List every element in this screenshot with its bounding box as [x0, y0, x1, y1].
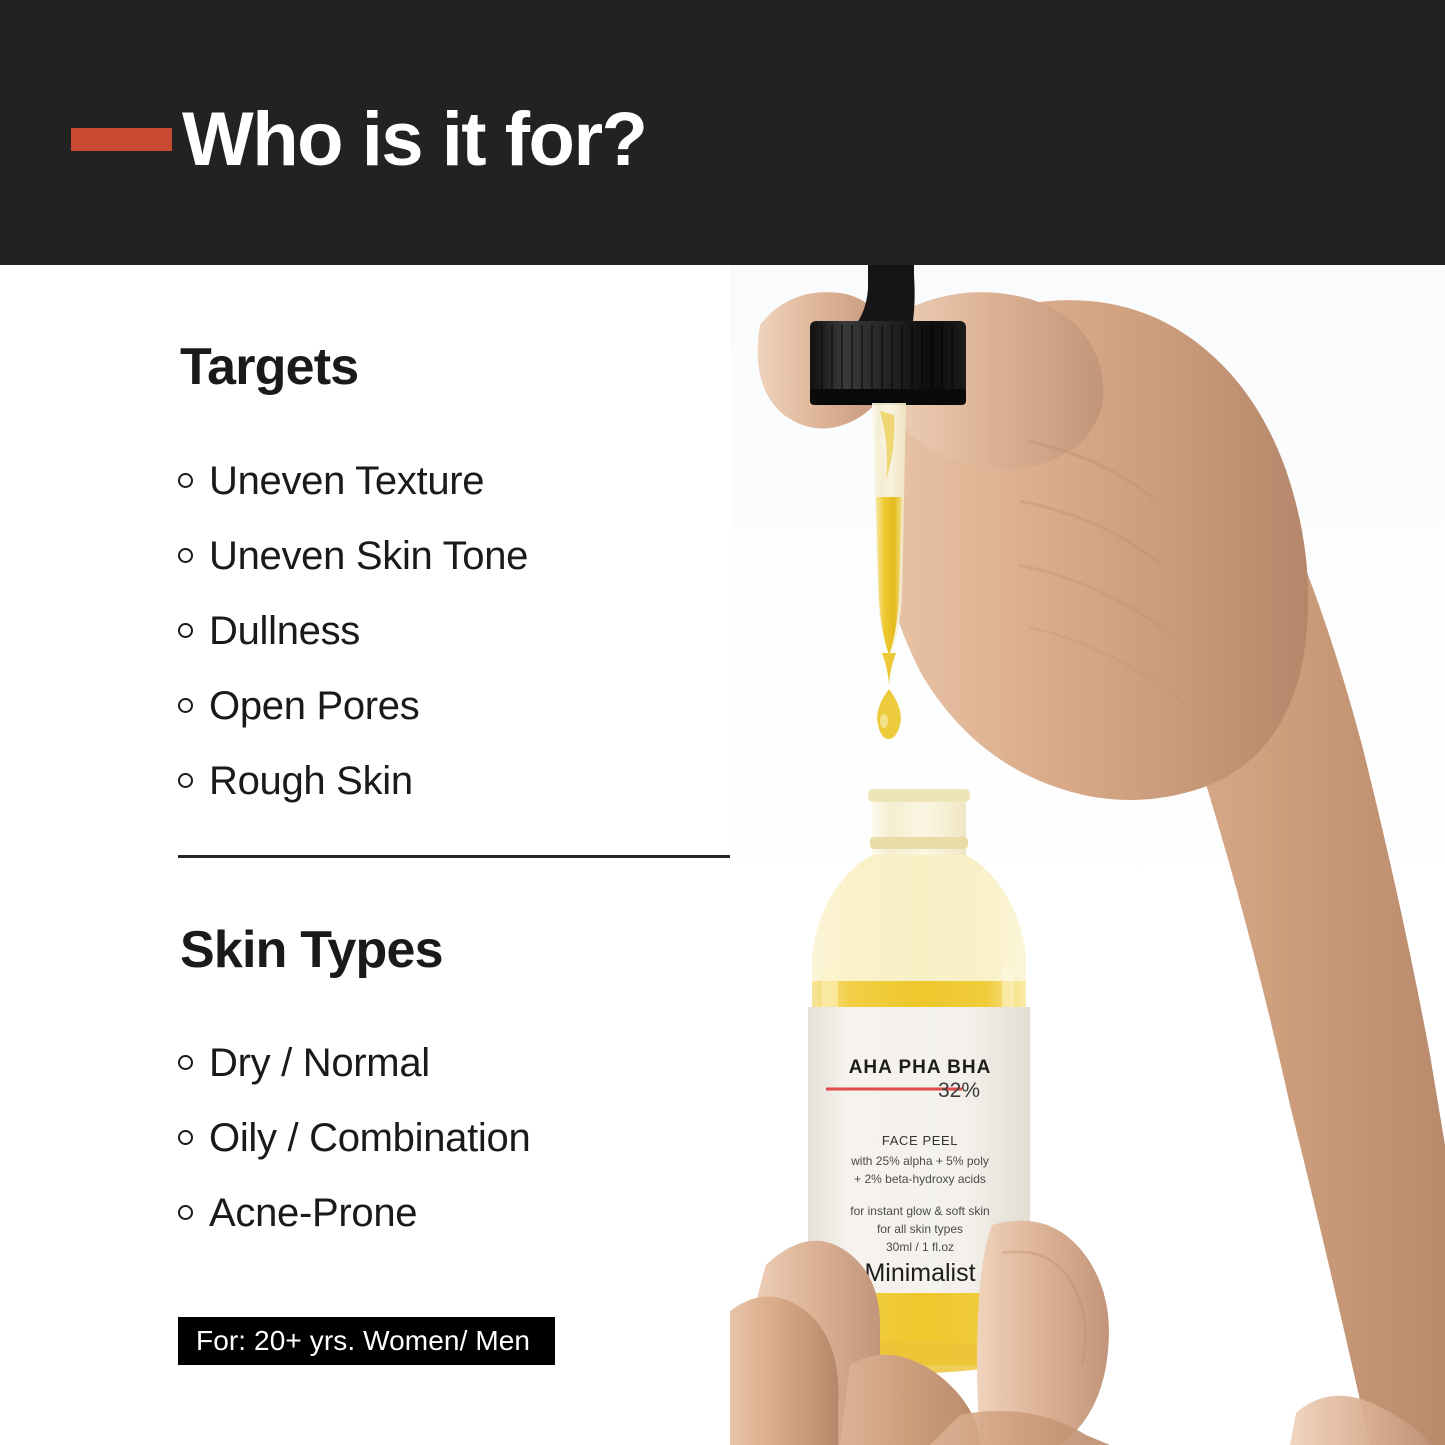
circle-bullet-icon: [178, 1205, 193, 1220]
age-badge-label: For: 20+ yrs. Women/ Men: [178, 1325, 530, 1357]
list-item: Uneven Texture: [178, 443, 528, 518]
list-item: Rough Skin: [178, 743, 528, 818]
targets-list: Uneven Texture Uneven Skin Tone Dullness…: [178, 443, 528, 818]
bottle-lip: [868, 789, 970, 802]
label-benefit-2: for all skin types: [877, 1222, 963, 1236]
label-brand-line: AHA PHA BHA: [849, 1057, 992, 1078]
circle-bullet-icon: [178, 473, 193, 488]
circle-bullet-icon: [178, 1130, 193, 1145]
label-volume: 30ml / 1 fl.oz: [886, 1240, 954, 1254]
pipette-tip: [882, 653, 896, 685]
content-column: Targets Uneven Texture Uneven Skin Tone …: [0, 265, 820, 1445]
list-item: Dullness: [178, 593, 528, 668]
list-item: Dry / Normal: [178, 1025, 530, 1100]
bottle-thread: [870, 837, 968, 849]
list-item-label: Dry / Normal: [209, 1043, 430, 1083]
section-divider: [178, 855, 761, 858]
list-item-label: Uneven Texture: [209, 461, 484, 501]
page-title: Who is it for?: [182, 98, 646, 182]
list-item-label: Oily / Combination: [209, 1118, 530, 1158]
label-brand: Minimalist: [864, 1259, 975, 1287]
list-item-label: Dullness: [209, 611, 360, 651]
list-item: Oily / Combination: [178, 1100, 530, 1175]
list-item: Uneven Skin Tone: [178, 518, 528, 593]
header-accent-bar: [71, 128, 172, 151]
circle-bullet-icon: [178, 1055, 193, 1070]
age-badge: For: 20+ yrs. Women/ Men: [178, 1317, 555, 1365]
list-item: Open Pores: [178, 668, 528, 743]
product-infographic-page: Who is it for? Targets Uneven Texture Un…: [0, 0, 1445, 1445]
pipette-oil: [876, 497, 902, 655]
oil-droplet: [877, 689, 901, 739]
label-composition-1: with 25% alpha + 5% poly: [850, 1154, 989, 1168]
list-item: Acne-Prone: [178, 1175, 530, 1250]
list-item-label: Rough Skin: [209, 761, 413, 801]
circle-bullet-icon: [178, 623, 193, 638]
bottle-air-gap: [812, 855, 1026, 981]
circle-bullet-icon: [178, 548, 193, 563]
label-composition-2: + 2% beta-hydroxy acids: [854, 1172, 986, 1186]
list-item-label: Open Pores: [209, 686, 419, 726]
list-item-label: Acne-Prone: [209, 1193, 417, 1233]
label-product-type: FACE PEEL: [882, 1133, 958, 1148]
circle-bullet-icon: [178, 773, 193, 788]
label-strength: 32%: [938, 1079, 980, 1102]
skin-types-list: Dry / Normal Oily / Combination Acne-Pro…: [178, 1025, 530, 1250]
circle-bullet-icon: [178, 698, 193, 713]
list-item-label: Uneven Skin Tone: [209, 536, 528, 576]
label-benefit-1: for instant glow & soft skin: [850, 1204, 989, 1218]
targets-heading: Targets: [180, 337, 358, 397]
skin-types-heading: Skin Types: [180, 920, 443, 980]
product-photo: AHA PHA BHA 32% FACE PEEL with 25% alpha…: [730, 265, 1445, 1445]
droplet-highlight: [880, 714, 888, 728]
header-bar: Who is it for?: [0, 0, 1445, 265]
dropper-cap: [810, 321, 966, 405]
